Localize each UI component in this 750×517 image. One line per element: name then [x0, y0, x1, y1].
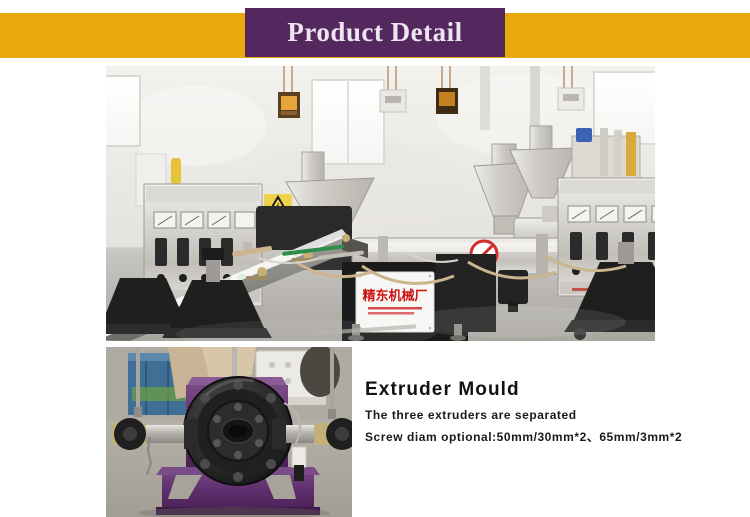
banner-title-box: Product Detail [245, 8, 505, 57]
window-center [312, 80, 384, 164]
caption-heading: Extruder Mould [365, 380, 740, 400]
product-detail-page: Product Detail [0, 0, 750, 517]
extruder-line-illustration: 精东机械厂 [106, 66, 655, 341]
mould-caption-block: Extruder Mould The three extruders are s… [365, 380, 740, 445]
extruder-mould-illustration [106, 347, 352, 517]
extruder-production-line-photo: 精东机械厂 [106, 66, 655, 341]
control-meters-right [568, 206, 655, 222]
caption-line-2: Screw diam optional:50mm/30mm*2、65mm/3mm… [365, 431, 740, 445]
window-left [106, 76, 140, 146]
extruder-mould-photo [106, 347, 352, 517]
factory-sign-text: 精东机械厂 [362, 288, 427, 304]
caption-line-1: The three extruders are separated [365, 409, 740, 423]
page-title: Product Detail [287, 19, 462, 46]
